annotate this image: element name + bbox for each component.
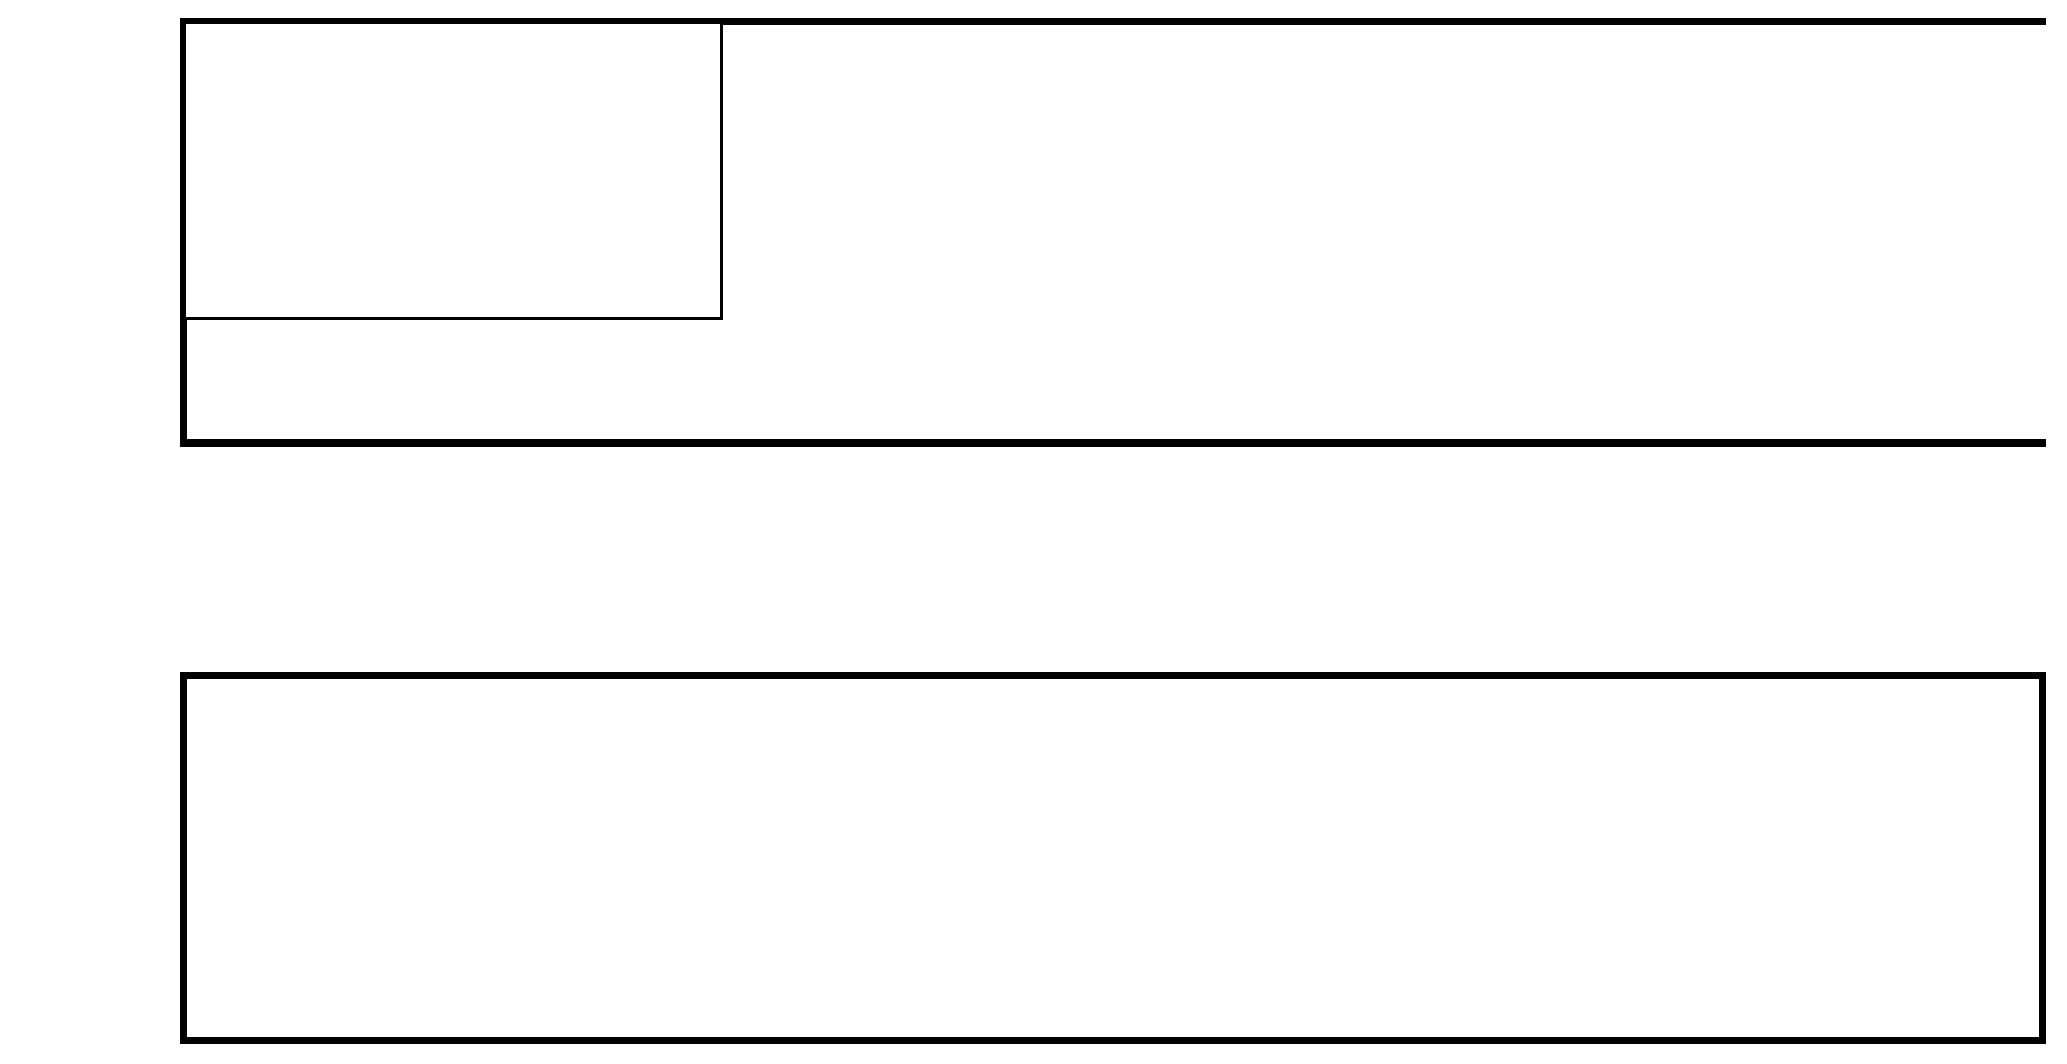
legend-item-dhi-reference [208, 229, 348, 240]
error-plot-panel [180, 672, 2046, 1044]
legend-swatch-frost2 [208, 64, 326, 75]
figure-root [0, 0, 2067, 1064]
legend-swatch-dhi-reference [208, 229, 326, 240]
error-plot-area [187, 679, 2039, 1037]
legend [183, 21, 723, 320]
legend-swatch-ghi-reference [208, 154, 326, 165]
legend-item-ghi-reference [208, 154, 348, 165]
legend-item-frost2 [208, 64, 348, 75]
ghi-x-axis-line [180, 439, 2046, 447]
